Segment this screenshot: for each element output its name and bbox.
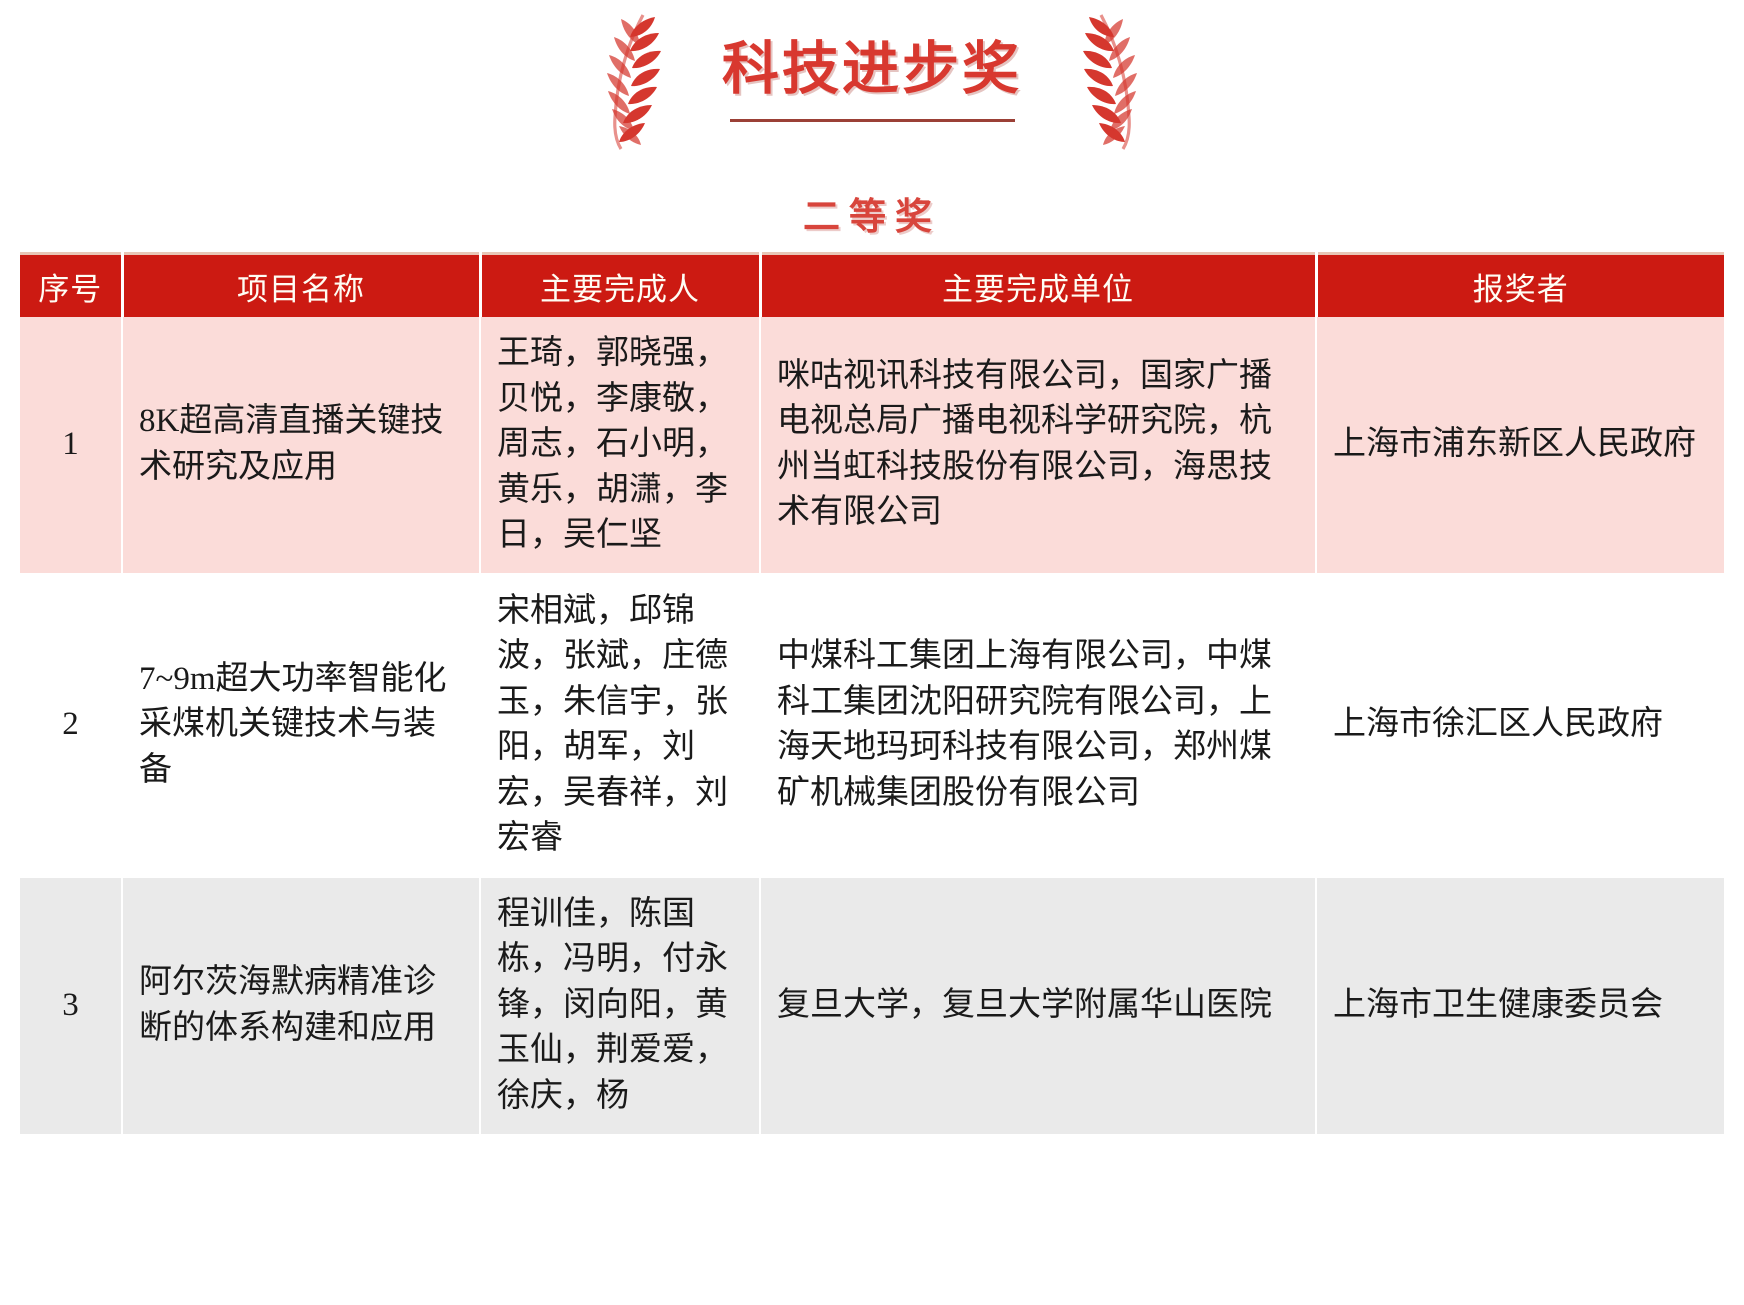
cell-reporter: 上海市徐汇区人民政府 — [1316, 574, 1724, 877]
column-header-org: 主要完成单位 — [760, 254, 1316, 318]
cell-reporter: 上海市浦东新区人民政府 — [1316, 317, 1724, 574]
title-stack: 科技进步奖 — [707, 40, 1037, 122]
column-header-reporter: 报奖者 — [1316, 254, 1724, 318]
column-header-project: 项目名称 — [122, 254, 480, 318]
title-underline-rule — [730, 119, 1015, 122]
cell-org: 中煤科工集团上海有限公司，中煤科工集团沈阳研究院有限公司，上海天地玛珂科技有限公… — [760, 574, 1316, 877]
award-main-title: 科技进步奖 — [722, 40, 1022, 100]
table-row: 2 7~9m超大功率智能化采煤机关键技术与装备 宋相斌，邱锦波，张斌，庄德玉，朱… — [20, 574, 1724, 877]
title-row: 科技进步奖 — [581, 6, 1163, 156]
award-sub-title: 二等奖 — [803, 186, 941, 240]
award-table-wrap: 序号 项目名称 主要完成人 主要完成单位 报奖者 1 8K超高清直播关键技术研究… — [20, 252, 1724, 1136]
laurel-branch-left-icon — [581, 11, 673, 151]
cell-index: 2 — [20, 574, 122, 877]
cell-project: 阿尔茨海默病精准诊断的体系构建和应用 — [122, 877, 480, 1135]
table-row: 3 阿尔茨海默病精准诊断的体系构建和应用 程训佳，陈国栋，冯明，付永锋，闵向阳，… — [20, 877, 1724, 1135]
cell-index: 1 — [20, 317, 122, 574]
cell-reporter: 上海市卫生健康委员会 — [1316, 877, 1724, 1135]
cell-org: 复旦大学，复旦大学附属华山医院 — [760, 877, 1316, 1135]
cell-index: 3 — [20, 877, 122, 1135]
cell-people: 程训佳，陈国栋，冯明，付永锋，闵向阳，黄玉仙，荆爱爱，徐庆，杨 — [480, 877, 760, 1135]
cell-project: 7~9m超大功率智能化采煤机关键技术与装备 — [122, 574, 480, 877]
column-header-people: 主要完成人 — [480, 254, 760, 318]
cell-people: 王琦，郭晓强，贝悦，李康敬，周志，石小明，黄乐，胡潇，李日，吴仁坚 — [480, 317, 760, 574]
laurel-branch-right-icon — [1071, 11, 1163, 151]
award-table: 序号 项目名称 主要完成人 主要完成单位 报奖者 1 8K超高清直播关键技术研究… — [20, 252, 1724, 1136]
table-header: 序号 项目名称 主要完成人 主要完成单位 报奖者 — [20, 254, 1724, 318]
table-body: 1 8K超高清直播关键技术研究及应用 王琦，郭晓强，贝悦，李康敬，周志，石小明，… — [20, 317, 1724, 1135]
cell-people: 宋相斌，邱锦波，张斌，庄德玉，朱信宇，张阳，胡军，刘宏，吴春祥，刘宏睿 — [480, 574, 760, 877]
table-header-row: 序号 项目名称 主要完成人 主要完成单位 报奖者 — [20, 254, 1724, 318]
column-header-index: 序号 — [20, 254, 122, 318]
cell-org: 咪咕视讯科技有限公司，国家广播电视总局广播电视科学研究院，杭州当虹科技股份有限公… — [760, 317, 1316, 574]
award-banner: 科技进步奖 — [0, 0, 1744, 252]
cell-project: 8K超高清直播关键技术研究及应用 — [122, 317, 480, 574]
banner-inner: 科技进步奖 — [0, 6, 1744, 240]
table-row: 1 8K超高清直播关键技术研究及应用 王琦，郭晓强，贝悦，李康敬，周志，石小明，… — [20, 317, 1724, 574]
